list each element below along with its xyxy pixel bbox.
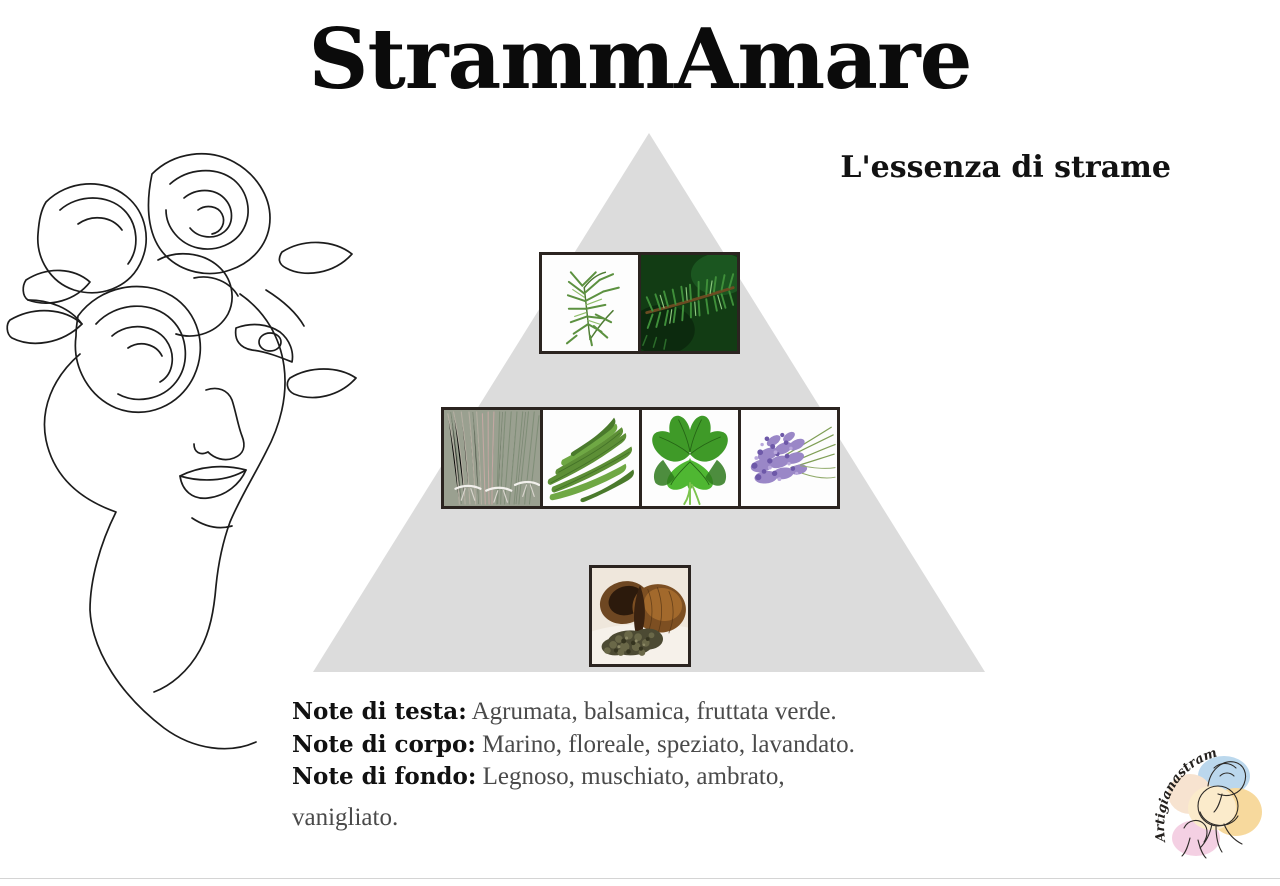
page-title: StrammAmare <box>0 18 1280 101</box>
note-line-top: Note di testa: Agrumata, balsamica, frut… <box>292 696 1052 729</box>
tile-basil-bunch <box>639 407 741 509</box>
tile-tonka-bean <box>589 565 691 667</box>
note-label-top: Note di testa: <box>292 698 467 725</box>
tile-lavender-bouquet <box>738 407 840 509</box>
note-value-base: Legnoso, muschiato, ambrato, <box>483 763 785 790</box>
page-bottom-divider <box>0 878 1280 879</box>
note-line-base: Note di fondo: Legnoso, muschiato, ambra… <box>292 761 1052 794</box>
note-value-heart: Marino, floreale, speziato, lavandato. <box>482 731 855 758</box>
note-label-heart: Note di corpo: <box>292 731 476 758</box>
pyramid-row-base <box>589 565 691 667</box>
tile-straw-bundles <box>441 407 543 509</box>
fragrance-notes-block: Note di testa: Agrumata, balsamica, frut… <box>292 696 1052 834</box>
note-value-top: Agrumata, balsamica, fruttata verde. <box>472 698 837 725</box>
pyramid-row-middle <box>441 407 840 509</box>
note-label-base: Note di fondo: <box>292 763 476 790</box>
note-line-base-continued: vanigliato. <box>292 802 1052 835</box>
pyramid-row-top <box>539 252 740 354</box>
woman-face-lineart-illustration <box>4 140 374 750</box>
note-value-base-continued: vanigliato. <box>292 804 398 831</box>
tile-tarragon-leaves <box>540 407 642 509</box>
tile-fir-branch <box>638 252 740 354</box>
tile-rosemary-sprig <box>539 252 641 354</box>
poster-canvas: StrammAmare L'essenza di strame <box>0 0 1280 886</box>
note-line-heart: Note di corpo: Marino, floreale, speziat… <box>292 729 1052 762</box>
artigianastrame-logo: Artigianastrame <box>1150 750 1268 868</box>
